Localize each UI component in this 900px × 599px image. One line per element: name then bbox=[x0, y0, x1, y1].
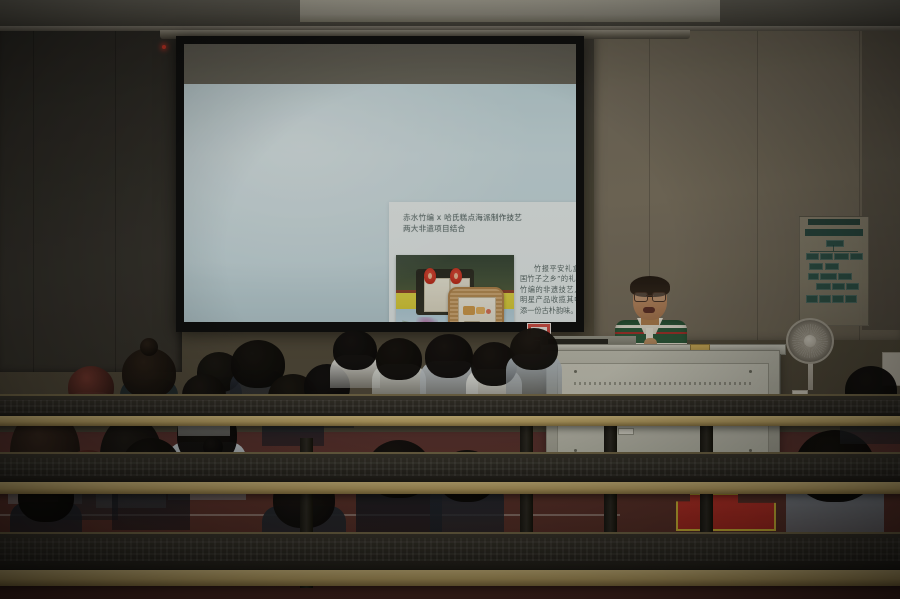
chart-node bbox=[820, 273, 837, 280]
projection-screen-header-band bbox=[184, 44, 576, 84]
seat-perforation bbox=[0, 458, 900, 476]
projector-status-led bbox=[162, 45, 166, 49]
chart-connector bbox=[810, 251, 858, 252]
audience-member bbox=[506, 328, 562, 396]
chart-node bbox=[832, 295, 844, 303]
audience-desk bbox=[0, 416, 900, 426]
seat-perforation bbox=[0, 400, 900, 413]
projection-screen[interactable]: 赤水竹编 x 哈氏糕点海派制作技艺 两大非遗项目结合 bbox=[184, 84, 576, 322]
audience-desk bbox=[0, 570, 900, 586]
poster-title-bar bbox=[805, 229, 863, 236]
audience-area bbox=[0, 320, 900, 599]
gift-box-label bbox=[458, 297, 496, 322]
glasses-icon bbox=[634, 292, 666, 300]
label-seal bbox=[486, 309, 491, 314]
wall-seam bbox=[115, 0, 116, 372]
glasses-lens-left bbox=[634, 292, 648, 302]
label-illustration bbox=[476, 307, 485, 314]
chart-node bbox=[806, 295, 818, 303]
audience-member-head bbox=[333, 330, 377, 370]
chart-node bbox=[819, 295, 831, 303]
bamboo-woven-gift-box bbox=[448, 287, 504, 322]
front-wall-left-panel bbox=[0, 0, 182, 372]
hair-bun bbox=[140, 338, 158, 356]
slide-body-text: 竹报平安礼盒是来自“中国竹子之乡”的礼物,采用赤水竹编的非遗技艺,将哈氏糕点明星… bbox=[520, 264, 576, 316]
red-tag-icon bbox=[450, 268, 462, 284]
tag-highlight bbox=[454, 273, 458, 279]
chart-node bbox=[825, 263, 839, 270]
chart-node bbox=[816, 283, 831, 290]
glasses-lens-right bbox=[652, 292, 666, 302]
chart-node bbox=[826, 240, 844, 247]
chart-node bbox=[850, 253, 863, 260]
chart-node bbox=[808, 273, 819, 280]
chart-node bbox=[832, 283, 845, 290]
label-illustration bbox=[463, 306, 475, 315]
audience-row[interactable] bbox=[0, 532, 900, 572]
lecture-hall-scene: 赤水竹编 x 哈氏糕点海派制作技艺 两大非遗项目结合 bbox=[0, 0, 900, 599]
chart-node bbox=[809, 263, 823, 270]
slide-title: 赤水竹编 x 哈氏糕点海派制作技艺 两大非遗项目结合 bbox=[403, 212, 576, 234]
slide-content-card: 赤水竹编 x 哈氏糕点海派制作技艺 两大非遗项目结合 bbox=[389, 202, 576, 322]
poster-header bbox=[808, 219, 860, 225]
chart-node bbox=[834, 253, 849, 260]
red-tag-icon bbox=[424, 268, 436, 284]
audience-member-head bbox=[510, 328, 558, 370]
audience-member-head bbox=[376, 338, 422, 380]
ceiling-light-panel bbox=[300, 0, 720, 22]
chart-node bbox=[806, 253, 819, 260]
chart-node bbox=[820, 253, 833, 260]
audience-row[interactable] bbox=[0, 452, 900, 484]
audience-desk bbox=[0, 482, 900, 494]
slide-title-line-1: 赤水竹编 x 哈氏糕点海派制作技艺 bbox=[403, 213, 522, 222]
audience-member bbox=[372, 338, 426, 400]
wall-seam bbox=[33, 0, 34, 372]
slide-photo-left bbox=[396, 255, 514, 322]
tag-highlight bbox=[428, 273, 432, 279]
chart-node bbox=[838, 273, 852, 280]
slide-title-line-2: 两大非遗项目结合 bbox=[403, 224, 465, 233]
chart-node bbox=[846, 283, 859, 290]
organization-chart-poster bbox=[799, 216, 869, 326]
chart-node bbox=[845, 295, 857, 303]
seat-perforation bbox=[0, 538, 900, 561]
presenter-mouth bbox=[643, 307, 655, 313]
audience-row[interactable] bbox=[0, 394, 900, 418]
wall-seam bbox=[757, 0, 758, 340]
